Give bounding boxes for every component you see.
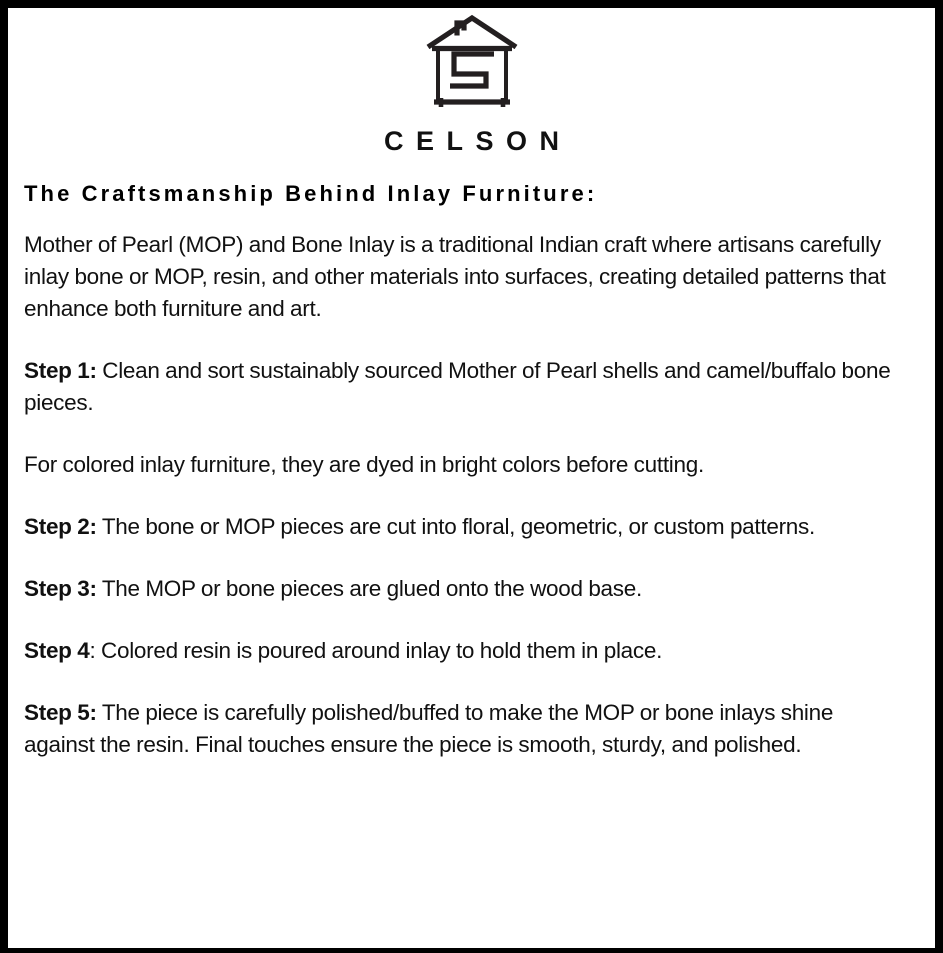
house-with-c-monogram-icon [424, 14, 520, 114]
paragraph-step-5: Step 5: The piece is carefully polished/… [24, 697, 909, 761]
paragraph-text: : Colored resin is poured around inlay t… [89, 638, 662, 663]
paragraph-intro: Mother of Pearl (MOP) and Bone Inlay is … [24, 229, 909, 325]
paragraph-lead: Step 4 [24, 638, 89, 663]
paragraph-lead: Step 2: [24, 514, 97, 539]
paragraph-step-1: Step 1: Clean and sort sustainably sourc… [24, 355, 909, 419]
brand-wordmark: CELSON [16, 128, 927, 155]
paragraph-text: For colored inlay furniture, they are dy… [24, 452, 704, 477]
paragraph-step-3: Step 3: The MOP or bone pieces are glued… [24, 573, 909, 605]
paragraph-lead: Step 5: [24, 700, 97, 725]
article-body: Mother of Pearl (MOP) and Bone Inlay is … [16, 229, 927, 760]
paragraph-text: The piece is carefully polished/buffed t… [24, 700, 833, 757]
paragraph-text: The bone or MOP pieces are cut into flor… [97, 514, 815, 539]
paragraph-lead: Step 3: [24, 576, 97, 601]
poster-page: CELSON The Craftsmanship Behind Inlay Fu… [0, 0, 943, 953]
paragraph-lead: Step 1: [24, 358, 97, 383]
paragraph-step-2: Step 2: The bone or MOP pieces are cut i… [24, 511, 909, 543]
paragraph-colored-note: For colored inlay furniture, they are dy… [24, 449, 909, 481]
paragraph-text: The MOP or bone pieces are glued onto th… [97, 576, 642, 601]
paragraph-text: Clean and sort sustainably sourced Mothe… [24, 358, 891, 415]
brand-block: CELSON [16, 8, 927, 155]
paragraph-step-4: Step 4: Colored resin is poured around i… [24, 635, 909, 667]
poster-inner: CELSON The Craftsmanship Behind Inlay Fu… [8, 8, 935, 948]
page-title: The Craftsmanship Behind Inlay Furniture… [16, 181, 927, 207]
paragraph-text: Mother of Pearl (MOP) and Bone Inlay is … [24, 232, 886, 321]
